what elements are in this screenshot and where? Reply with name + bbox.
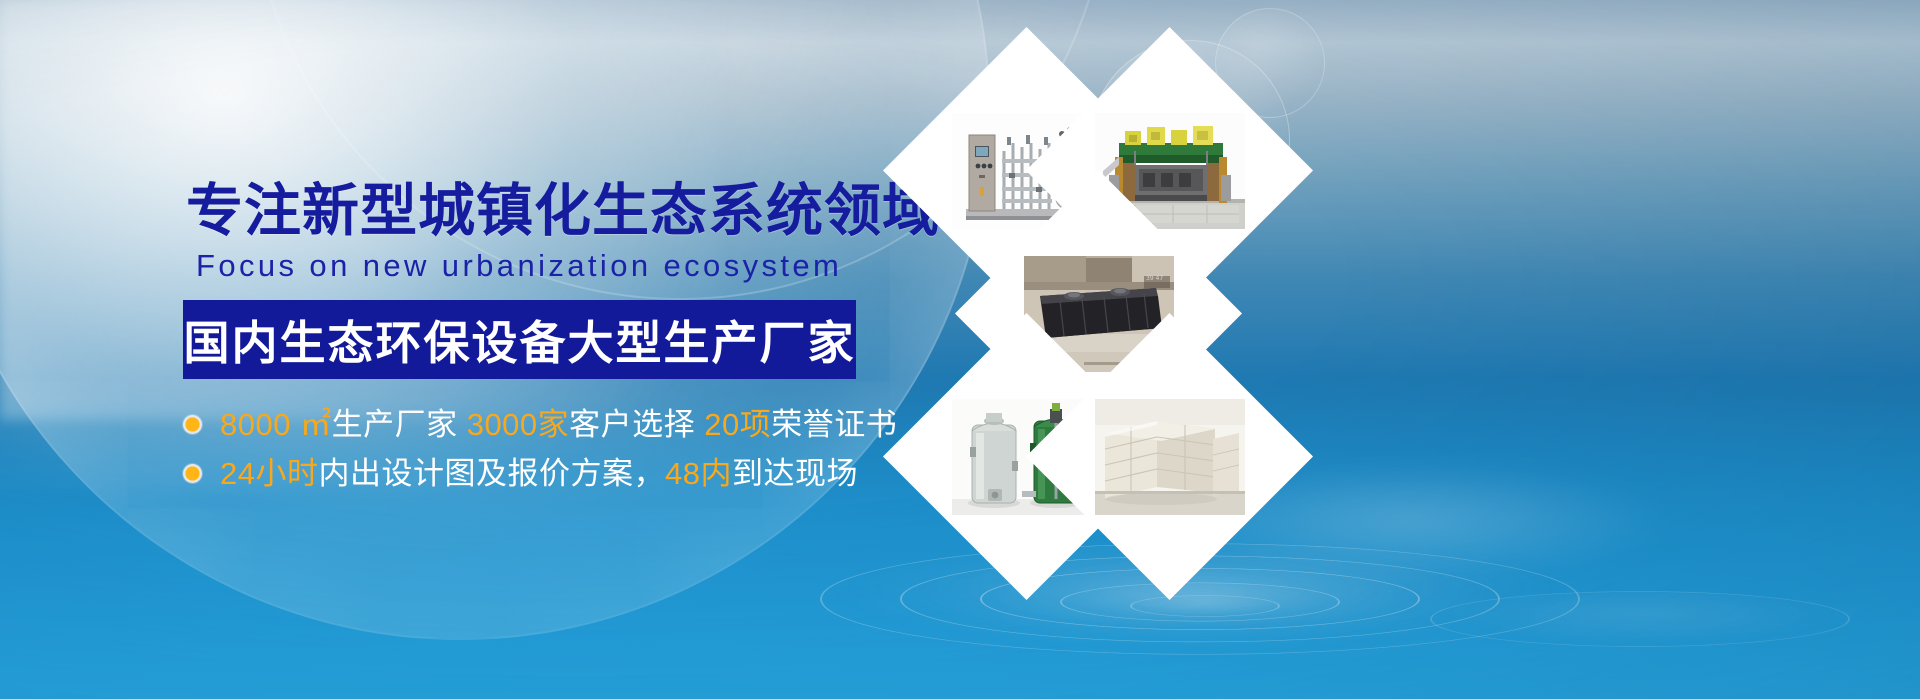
bullet-dot-icon xyxy=(183,415,202,434)
tagline-ribbon: 国内生态环保设备大型生产厂家 xyxy=(183,300,856,379)
hero-banner: 专注新型城镇化生态系统领域 Focus on new urbanization … xyxy=(0,0,1920,699)
bullet-dot-icon xyxy=(183,464,202,483)
aac-block-stack-photo-icon xyxy=(1095,399,1245,515)
headline-block: 专注新型城镇化生态系统领域 Focus on new urbanization … xyxy=(0,0,920,699)
feature-plain: 生产厂家 xyxy=(332,407,467,442)
feature-list: 8000 ㎡生产厂家 3000家客户选择 20项荣誉证书 24小时内出设计图及报… xyxy=(183,400,923,498)
svg-text:39 47: 39 47 xyxy=(1146,275,1163,282)
feature-text-2: 24小时内出设计图及报价方案，48内到达现场 xyxy=(220,458,858,489)
feature-highlight: 8000 ㎡ xyxy=(220,407,332,442)
list-item: 8000 ㎡生产厂家 3000家客户选择 20项荣誉证书 xyxy=(183,400,923,449)
product-gallery: 39 47 xyxy=(905,46,1335,476)
feature-highlight: 20项 xyxy=(704,407,771,442)
feature-plain: 客户选择 xyxy=(569,407,704,442)
feature-plain: 荣誉证书 xyxy=(771,407,897,442)
feature-highlight: 48内 xyxy=(665,456,732,491)
list-item: 24小时内出设计图及报价方案，48内到达现场 xyxy=(183,449,923,498)
feature-highlight: 3000家 xyxy=(467,407,569,442)
feature-text-1: 8000 ㎡生产厂家 3000家客户选择 20项荣誉证书 xyxy=(220,409,897,440)
feature-plain: 到达现场 xyxy=(732,456,858,491)
feature-plain: 内出设计图及报价方案， xyxy=(318,456,665,491)
feature-highlight: 24小时 xyxy=(220,456,318,491)
page-subtitle: Focus on new urbanization ecosystem xyxy=(196,250,842,281)
page-title: 专注新型城镇化生态系统领域 xyxy=(186,183,940,240)
tagline-text: 国内生态环保设备大型生产厂家 xyxy=(184,307,856,373)
